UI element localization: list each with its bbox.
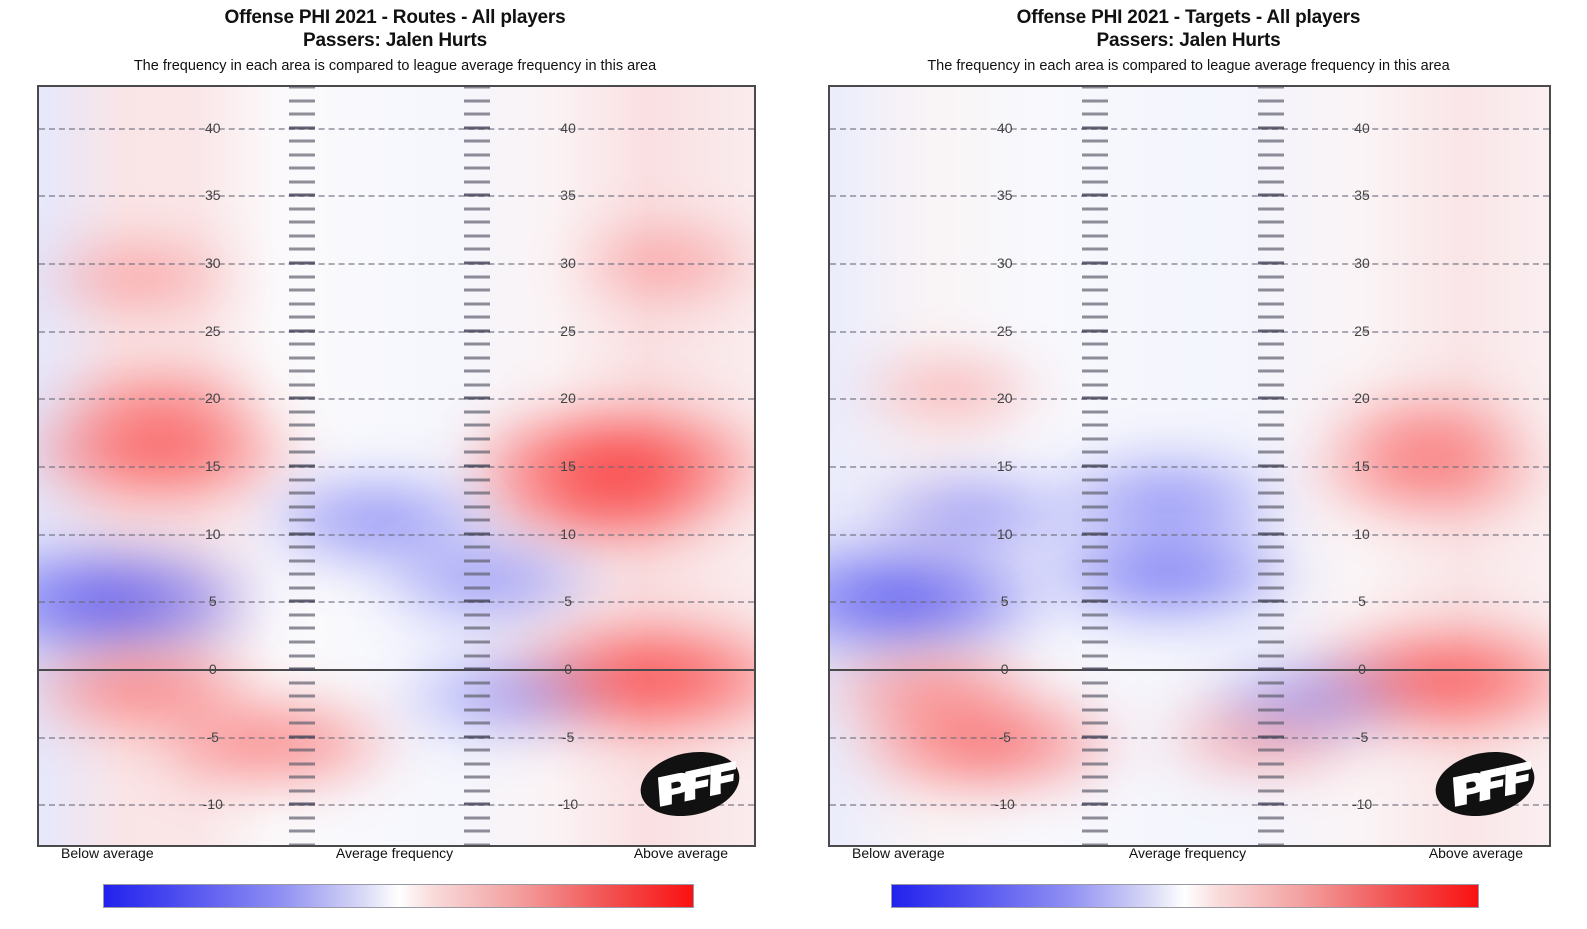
y-tick-label-25-left: 25 [201,323,225,339]
y-tick-label-35-right: 35 [1350,187,1374,203]
y-tick-label-35-left: 35 [201,187,225,203]
legend-labels-targets: Below average Average frequency Above av… [828,845,1547,865]
hash-mark-column-right [464,87,490,845]
hash-mark-column-right [1258,87,1284,845]
gridline-15 [830,466,1549,468]
field-heatmap-routes[interactable]: 40403535303025252020151510105500-5-5-10-… [37,85,756,847]
y-tick-label-10-right: 10 [556,526,580,542]
y-tick-label-10-left: 10 [201,526,225,542]
y-tick-label-0-left: 0 [997,661,1013,677]
pff-logo-icon [1433,751,1537,817]
y-tick-label-15-left: 15 [993,458,1017,474]
legend-below-average: Below average [61,845,154,861]
colorbar-targets [891,884,1479,908]
y-tick-label-5-left: 5 [997,593,1013,609]
y-tick-label-0-right: 0 [560,661,576,677]
gridline-10 [39,534,754,536]
gridline-30 [39,263,754,265]
y-tick-label-35-left: 35 [993,187,1017,203]
chart-note: The frequency in each area is compared t… [0,56,790,76]
y-tick-label-40-right: 40 [1350,120,1374,136]
field-overlay: 40403535303025252020151510105500-5-5-10-… [39,87,754,845]
legend-labels-routes: Below average Average frequency Above av… [37,845,752,865]
field-heatmap-targets[interactable]: 40403535303025252020151510105500-5-5-10-… [828,85,1551,847]
chart-title: Offense PHI 2021 - Routes - All players [0,6,790,29]
chart-subtitle: Passers: Jalen Hurts [0,29,790,52]
gridline-25 [39,331,754,333]
y-tick-label-5-right: 5 [560,593,576,609]
y-tick-label--5-right: -5 [1352,729,1372,745]
y-tick-label-5-left: 5 [205,593,221,609]
line-of-scrimmage [830,669,1549,671]
legend-average-frequency: Average frequency [336,845,453,861]
gridline-40 [39,128,754,130]
y-tick-label-10-right: 10 [1350,526,1374,542]
y-tick-label--10-left: -10 [991,796,1019,812]
legend-below-average: Below average [852,845,945,861]
y-tick-label--5-right: -5 [558,729,578,745]
chart-subtitle: Passers: Jalen Hurts [790,29,1587,52]
gridline-20 [830,398,1549,400]
y-tick-label-40-left: 40 [201,120,225,136]
legend-average-frequency: Average frequency [1129,845,1246,861]
y-tick-label-15-left: 15 [201,458,225,474]
gridline-30 [830,263,1549,265]
chart-titles-targets: Offense PHI 2021 - Targets - All players… [790,0,1587,76]
y-tick-label--10-left: -10 [199,796,227,812]
line-of-scrimmage [39,669,754,671]
y-tick-label-20-right: 20 [1350,390,1374,406]
legend-above-average: Above average [1429,845,1523,861]
gridline-5 [39,601,754,603]
y-tick-label-40-right: 40 [556,120,580,136]
y-tick-label-30-right: 30 [556,255,580,271]
y-tick-label--10-right: -10 [1348,796,1376,812]
y-tick-label-0-left: 0 [205,661,221,677]
gridline-25 [830,331,1549,333]
y-tick-label--5-left: -5 [994,729,1014,745]
chart-note: The frequency in each area is compared t… [790,56,1587,76]
chart-titles-routes: Offense PHI 2021 - Routes - All players … [0,0,790,76]
gridline-5 [830,601,1549,603]
gridline-35 [830,195,1549,197]
gridline-15 [39,466,754,468]
y-tick-label-20-left: 20 [993,390,1017,406]
legend-above-average: Above average [634,845,728,861]
gridline-35 [39,195,754,197]
chart-panel-routes: Offense PHI 2021 - Routes - All players … [0,0,790,929]
hash-mark-column-left [1082,87,1108,845]
field-overlay: 40403535303025252020151510105500-5-5-10-… [830,87,1549,845]
gridline--5 [830,737,1549,739]
y-tick-label-25-left: 25 [993,323,1017,339]
y-tick-label-35-right: 35 [556,187,580,203]
y-tick-label-20-left: 20 [201,390,225,406]
y-tick-label-30-left: 30 [201,255,225,271]
gridline--5 [39,737,754,739]
gridline-40 [830,128,1549,130]
y-tick-label-25-right: 25 [1350,323,1374,339]
y-tick-label-25-right: 25 [556,323,580,339]
gridline-20 [39,398,754,400]
y-tick-label-0-right: 0 [1354,661,1370,677]
gridline-10 [830,534,1549,536]
chart-title: Offense PHI 2021 - Targets - All players [790,6,1587,29]
y-tick-label-10-left: 10 [993,526,1017,542]
y-tick-label-30-left: 30 [993,255,1017,271]
y-tick-label--5-left: -5 [203,729,223,745]
pff-logo-icon [638,751,742,817]
chart-panel-targets: Offense PHI 2021 - Targets - All players… [790,0,1587,929]
y-tick-label-30-right: 30 [1350,255,1374,271]
colorbar-routes [103,884,694,908]
hash-mark-column-left [289,87,315,845]
y-tick-label-20-right: 20 [556,390,580,406]
y-tick-label--10-right: -10 [554,796,582,812]
dual-heatmap-page: Offense PHI 2021 - Routes - All players … [0,0,1587,929]
y-tick-label-15-right: 15 [1350,458,1374,474]
y-tick-label-40-left: 40 [993,120,1017,136]
y-tick-label-5-right: 5 [1354,593,1370,609]
y-tick-label-15-right: 15 [556,458,580,474]
